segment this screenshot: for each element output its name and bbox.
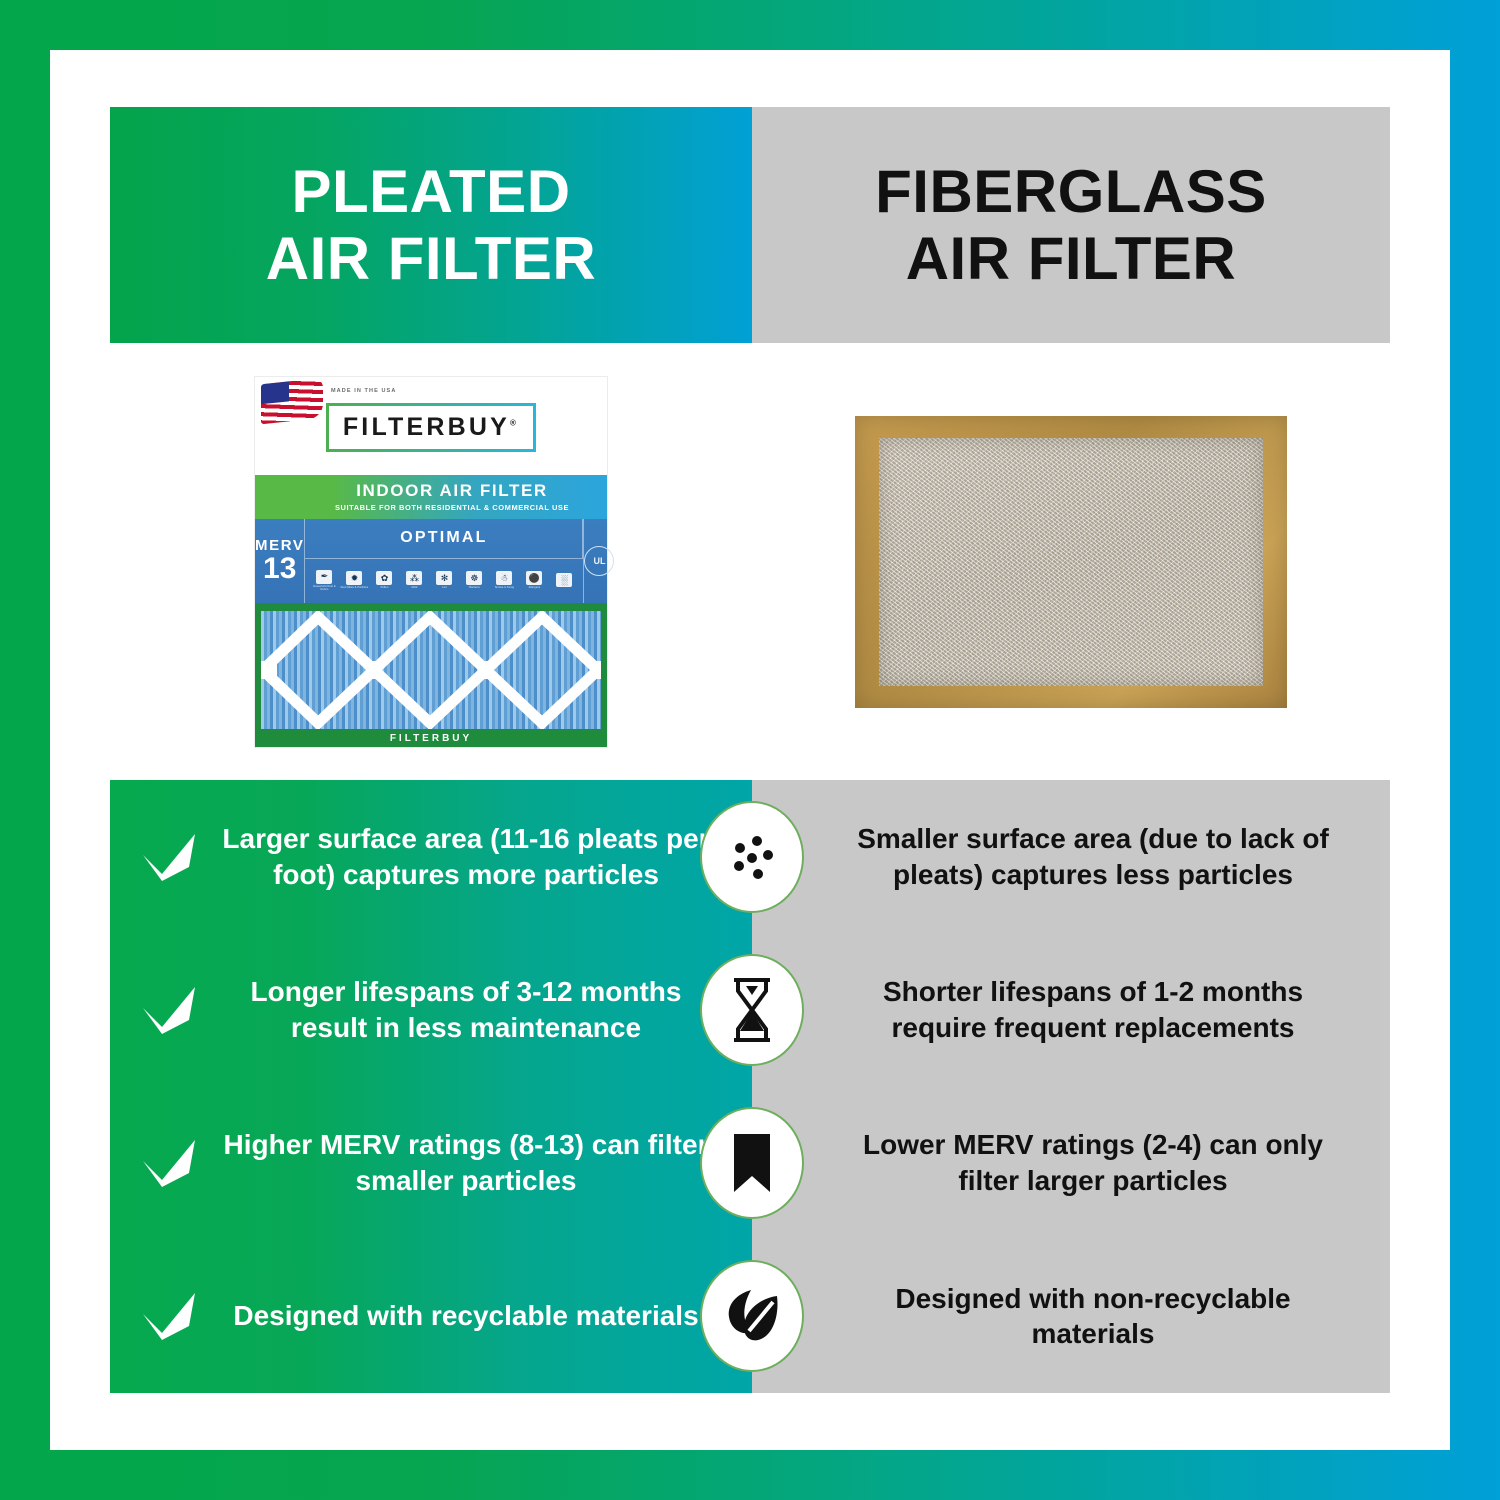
capture-label: Mold [411,586,417,589]
checkmark-icon [138,984,200,1036]
comparison-panel: Larger surface area (11-16 pleats per fo… [110,780,1390,1393]
capture-item: ✻Lint [429,571,459,589]
header-pleated: PLEATED AIR FILTER [110,107,752,343]
comparison-text-pleated: Designed with recyclable materials [214,1298,718,1334]
fiberglass-filter-image [855,416,1287,708]
comparison-row-pleated: Larger surface area (11-16 pleats per fo… [110,780,752,933]
header-fiberglass-line1: FIBERGLASS [875,158,1267,225]
comparison-row-pleated: Higher MERV ratings (8-13) can filter sm… [110,1087,752,1240]
hourglass-icon [700,954,804,1066]
comparison-text-pleated: Longer lifespans of 3-12 months result i… [214,974,718,1046]
capture-item: ✒Household Dust & Debris [309,570,339,592]
filterbuy-logo: FILTERBUY® [326,403,536,452]
ul-certification: UL [583,519,614,603]
pleated-frame-brand: FILTERBUY [255,733,607,744]
capture-label: Household Dust & Debris [309,585,339,592]
header-pleated-line2: AIR FILTER [266,225,597,292]
comparison-text-fiberglass: Lower MERV ratings (2-4) can only filter… [848,1127,1338,1199]
fiberglass-media [879,438,1263,686]
merv-value: 13 [263,554,296,584]
infographic-frame: PLEATED AIR FILTER FIBERGLASS AIR FILTER… [0,0,1500,1500]
ul-listed-icon: UL [584,546,614,576]
mold-icon: ⁂ [406,571,422,585]
capture-item: ✿Pollen [369,571,399,589]
capture-item: ✹Dust Mites & Particles [339,571,369,589]
comparison-row: Larger surface area (11-16 pleats per fo… [110,780,1390,933]
pleated-media-area: FILTERBUY [255,603,607,747]
comparison-text-pleated: Larger surface area (11-16 pleats per fo… [214,821,718,893]
comparison-row-fiberglass: Smaller surface area (due to lack of ple… [752,780,1390,933]
capture-label: Dust Mites & Particles [341,586,369,589]
usa-flag-icon [261,377,323,424]
header-fiberglass-line2: AIR FILTER [875,225,1267,292]
filterbuy-logo-text: FILTERBUY® [343,413,519,442]
smoke-icon: ☃ [496,571,512,585]
capture-label: Lint [442,586,447,589]
indoor-air-filter-text: INDOOR AIR FILTER [356,481,548,501]
capture-label: Bacteria [469,586,479,589]
spec-column: OPTIMAL ✒Household Dust & Debris ✹Dust M… [305,519,583,603]
leaf-icon [700,1260,804,1372]
capture-item: ░ [549,573,579,588]
suitable-use-text: SUITABLE FOR BOTH RESIDENTIAL & COMMERCI… [335,503,569,512]
pleated-label-top: MADE IN THE USA FILTERBUY® [255,377,607,475]
merv-badge: MERV 13 [255,519,305,603]
product-cell-pleated: MADE IN THE USA FILTERBUY® INDOOR AIR FI… [110,343,752,780]
comparison-row: Longer lifespans of 3-12 months result i… [110,933,1390,1086]
comparison-row-pleated: Longer lifespans of 3-12 months result i… [110,933,752,1086]
checkmark-icon [138,1137,200,1189]
capture-label: Pollen [381,586,389,589]
product-cell-fiberglass [752,343,1390,780]
capture-item: ☃Smoke & Smog [489,571,519,589]
capture-item: ⁂Mold [399,571,429,589]
capture-label: Smoke & Smog [495,586,514,589]
product-row: MADE IN THE USA FILTERBUY® INDOOR AIR FI… [110,343,1390,780]
comparison-row-fiberglass: Shorter lifespans of 1-2 months require … [752,933,1390,1086]
capture-label: Allergens [529,586,541,589]
capture-item: ☸Bacteria [459,571,489,589]
header-pleated-title: PLEATED AIR FILTER [266,158,597,292]
made-in-usa-text: MADE IN THE USA [331,387,396,395]
dust-mite-icon: ✹ [346,571,362,585]
checkmark-icon [138,1290,200,1342]
comparison-text-fiberglass: Shorter lifespans of 1-2 months require … [848,974,1338,1046]
header-fiberglass: FIBERGLASS AIR FILTER [752,107,1390,343]
comparison-row: Designed with recyclable materials Desig… [110,1240,1390,1393]
comparison-row-pleated: Designed with recyclable materials [110,1240,752,1393]
tier-label: OPTIMAL [305,519,583,559]
dust-icon: ✒ [316,570,332,584]
bacteria-icon: ☸ [466,571,482,585]
capture-item: ⚫Allergens [519,571,549,589]
header-fiberglass-title: FIBERGLASS AIR FILTER [875,158,1267,292]
pleat-field [261,611,601,729]
comparison-text-fiberglass: Designed with non-recyclable materials [848,1281,1338,1353]
pollen-icon: ✿ [376,571,392,585]
comparison-text-fiberglass: Smaller surface area (due to lack of ple… [848,821,1338,893]
lint-icon: ✻ [436,571,452,585]
header-band: PLEATED AIR FILTER FIBERGLASS AIR FILTER [110,107,1390,343]
capture-icon-strip: ✒Household Dust & Debris ✹Dust Mites & P… [305,559,583,603]
pleated-filter-image: MADE IN THE USA FILTERBUY® INDOOR AIR FI… [255,377,607,747]
comparison-row: Higher MERV ratings (8-13) can filter sm… [110,1087,1390,1240]
header-pleated-line1: PLEATED [266,158,597,225]
bookmark-icon [700,1107,804,1219]
comparison-row-fiberglass: Designed with non-recyclable materials [752,1240,1390,1393]
checkmark-icon [138,831,200,883]
comparison-text-pleated: Higher MERV ratings (8-13) can filter sm… [214,1127,718,1199]
allergen-icon: ⚫ [526,571,542,585]
pleated-label-band: INDOOR AIR FILTER SUITABLE FOR BOTH RESI… [255,475,607,519]
particles-icon [700,801,804,913]
filter-swatch-icon: ░ [556,573,572,587]
comparison-row-fiberglass: Lower MERV ratings (2-4) can only filter… [752,1087,1390,1240]
wire-mesh-icon [261,611,601,729]
pleated-label-spec: MERV 13 OPTIMAL ✒Household Dust & Debris… [255,519,607,603]
